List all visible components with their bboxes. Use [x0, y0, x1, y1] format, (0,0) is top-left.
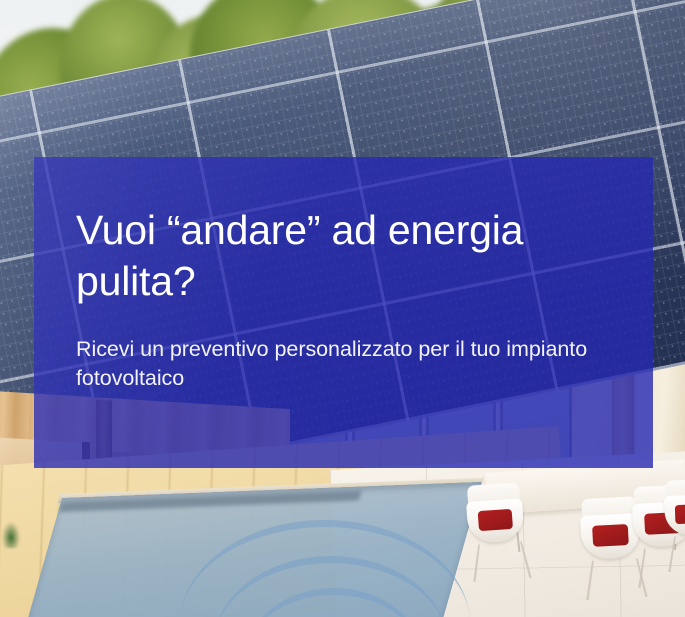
overlay-sheen — [34, 157, 653, 468]
chair-cushion — [675, 504, 685, 524]
chair-cushion — [478, 509, 513, 531]
hero-text-overlay: Vuoi “andare” ad energia pulita? Ricevi … — [34, 157, 653, 468]
small-plant — [2, 522, 20, 548]
hero-banner: Vuoi “andare” ad energia pulita? Ricevi … — [0, 0, 685, 617]
chair-cushion — [592, 524, 629, 547]
hero-title: Vuoi “andare” ad energia pulita? — [76, 205, 609, 307]
hero-subtitle: Ricevi un preventivo personalizzato per … — [76, 335, 596, 393]
chair-legs — [473, 541, 531, 581]
